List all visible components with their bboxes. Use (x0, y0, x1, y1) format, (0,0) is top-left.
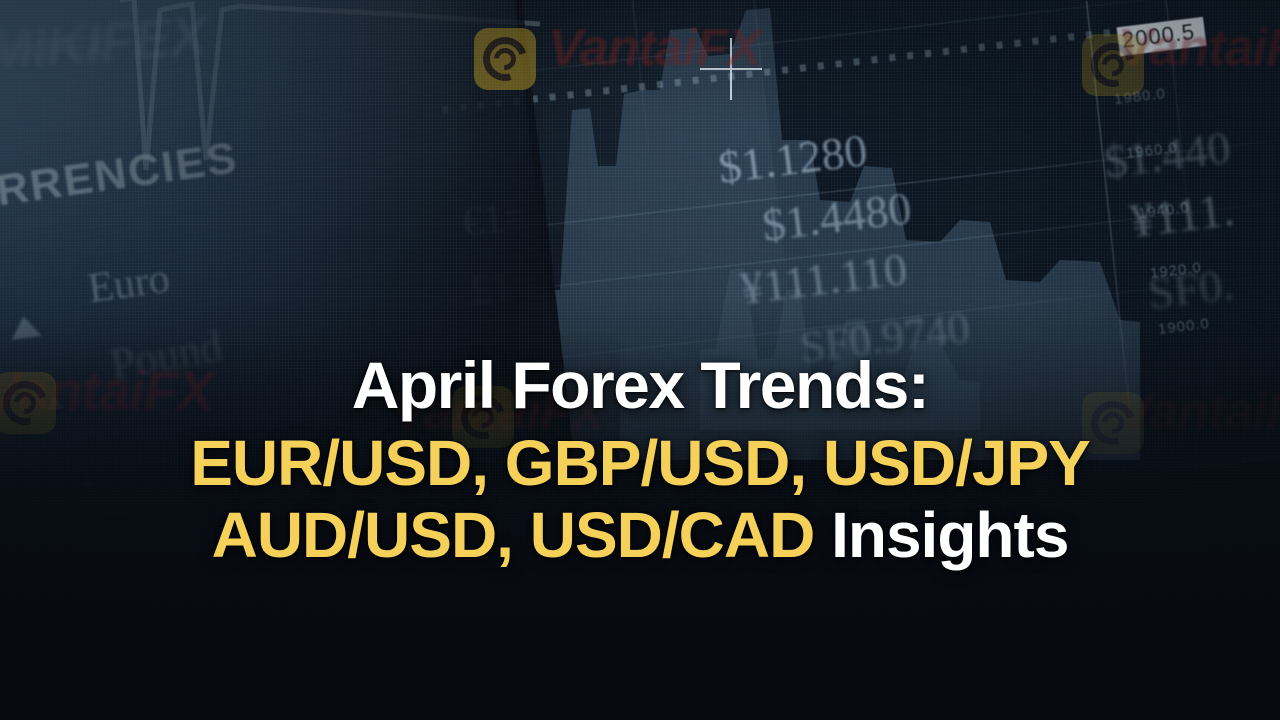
headline-block: April Forex Trends: EUR/USD, GBP/USD, US… (0, 352, 1280, 568)
headline-line-3-pairs: AUD/USD, USD/CAD (212, 499, 815, 571)
headline-line-3: AUD/USD, USD/CAD Insights (24, 503, 1256, 568)
headline-line-3-suffix: Insights (814, 499, 1068, 571)
forex-banner: URRENCIES Euro Pound €1= £1= $1.1280 $1.… (0, 0, 1280, 720)
headline-line-1: April Forex Trends: (24, 352, 1256, 419)
headline-line-2: EUR/USD, GBP/USD, USD/JPY (24, 431, 1256, 496)
